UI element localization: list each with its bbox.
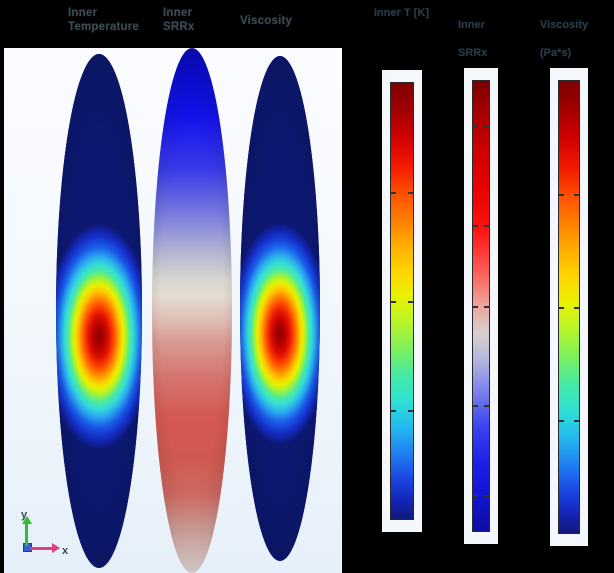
axis-x-arrowhead-icon xyxy=(52,543,60,553)
colorbar-inner-temperature: Inner T [K] xyxy=(374,6,438,546)
model-viewport[interactable]: y x xyxy=(4,48,342,573)
colorbar-frame xyxy=(464,68,498,544)
surface-fill-jet xyxy=(240,56,320,561)
axis-x-label: x xyxy=(62,545,68,557)
surface-fill-bwr xyxy=(152,48,232,573)
colorbar-title-inner-srrx: Inner SRRx xyxy=(458,4,516,74)
colorbar-title-line1: Viscosity xyxy=(540,18,610,32)
colorbar-title-line2: SRRx xyxy=(458,46,516,60)
colorbar-title-inner-t: Inner T [K] xyxy=(374,6,438,20)
plot-title-inner-srrx: Inner SRRx xyxy=(163,6,233,34)
axis-x-arrow xyxy=(30,547,54,550)
colorbar-title-line2: (Pa*s) xyxy=(540,46,610,60)
axis-triad: y x xyxy=(14,509,76,561)
screenshot-root: Inner Temperature Inner SRRx Viscosity xyxy=(0,0,614,573)
plot-title-line1: Inner xyxy=(163,6,233,20)
surface-plot-viscosity[interactable] xyxy=(240,56,320,561)
plot-title-viscosity: Viscosity xyxy=(240,14,320,28)
colorbar-gradient-jet xyxy=(558,80,580,534)
colorbar-title-viscosity: Viscosity (Pa*s) xyxy=(540,4,610,74)
plot-title-line2: Temperature xyxy=(68,20,168,34)
plot-title-line1: Viscosity xyxy=(240,14,320,28)
colorbar-frame xyxy=(382,70,422,532)
colorbar-gradient-jet xyxy=(390,82,414,520)
axis-y-arrow xyxy=(25,522,28,546)
axis-y-label: y xyxy=(21,509,27,521)
plot-title-line2: SRRx xyxy=(163,20,233,34)
colorbar-title-line1: Inner xyxy=(458,18,516,32)
plot-title-inner-temperature: Inner Temperature xyxy=(68,6,168,34)
surface-plot-inner-temperature[interactable] xyxy=(56,54,142,568)
colorbar-frame xyxy=(550,68,588,546)
colorbar-inner-srrx: Inner SRRx xyxy=(458,4,516,544)
plot-title-line1: Inner xyxy=(68,6,168,20)
colorbar-viscosity: Viscosity (Pa*s) xyxy=(540,4,610,544)
surface-plot-inner-srrx[interactable] xyxy=(152,48,232,573)
colorbar-gradient-bwr xyxy=(472,80,490,532)
surface-fill-jet xyxy=(56,54,142,568)
